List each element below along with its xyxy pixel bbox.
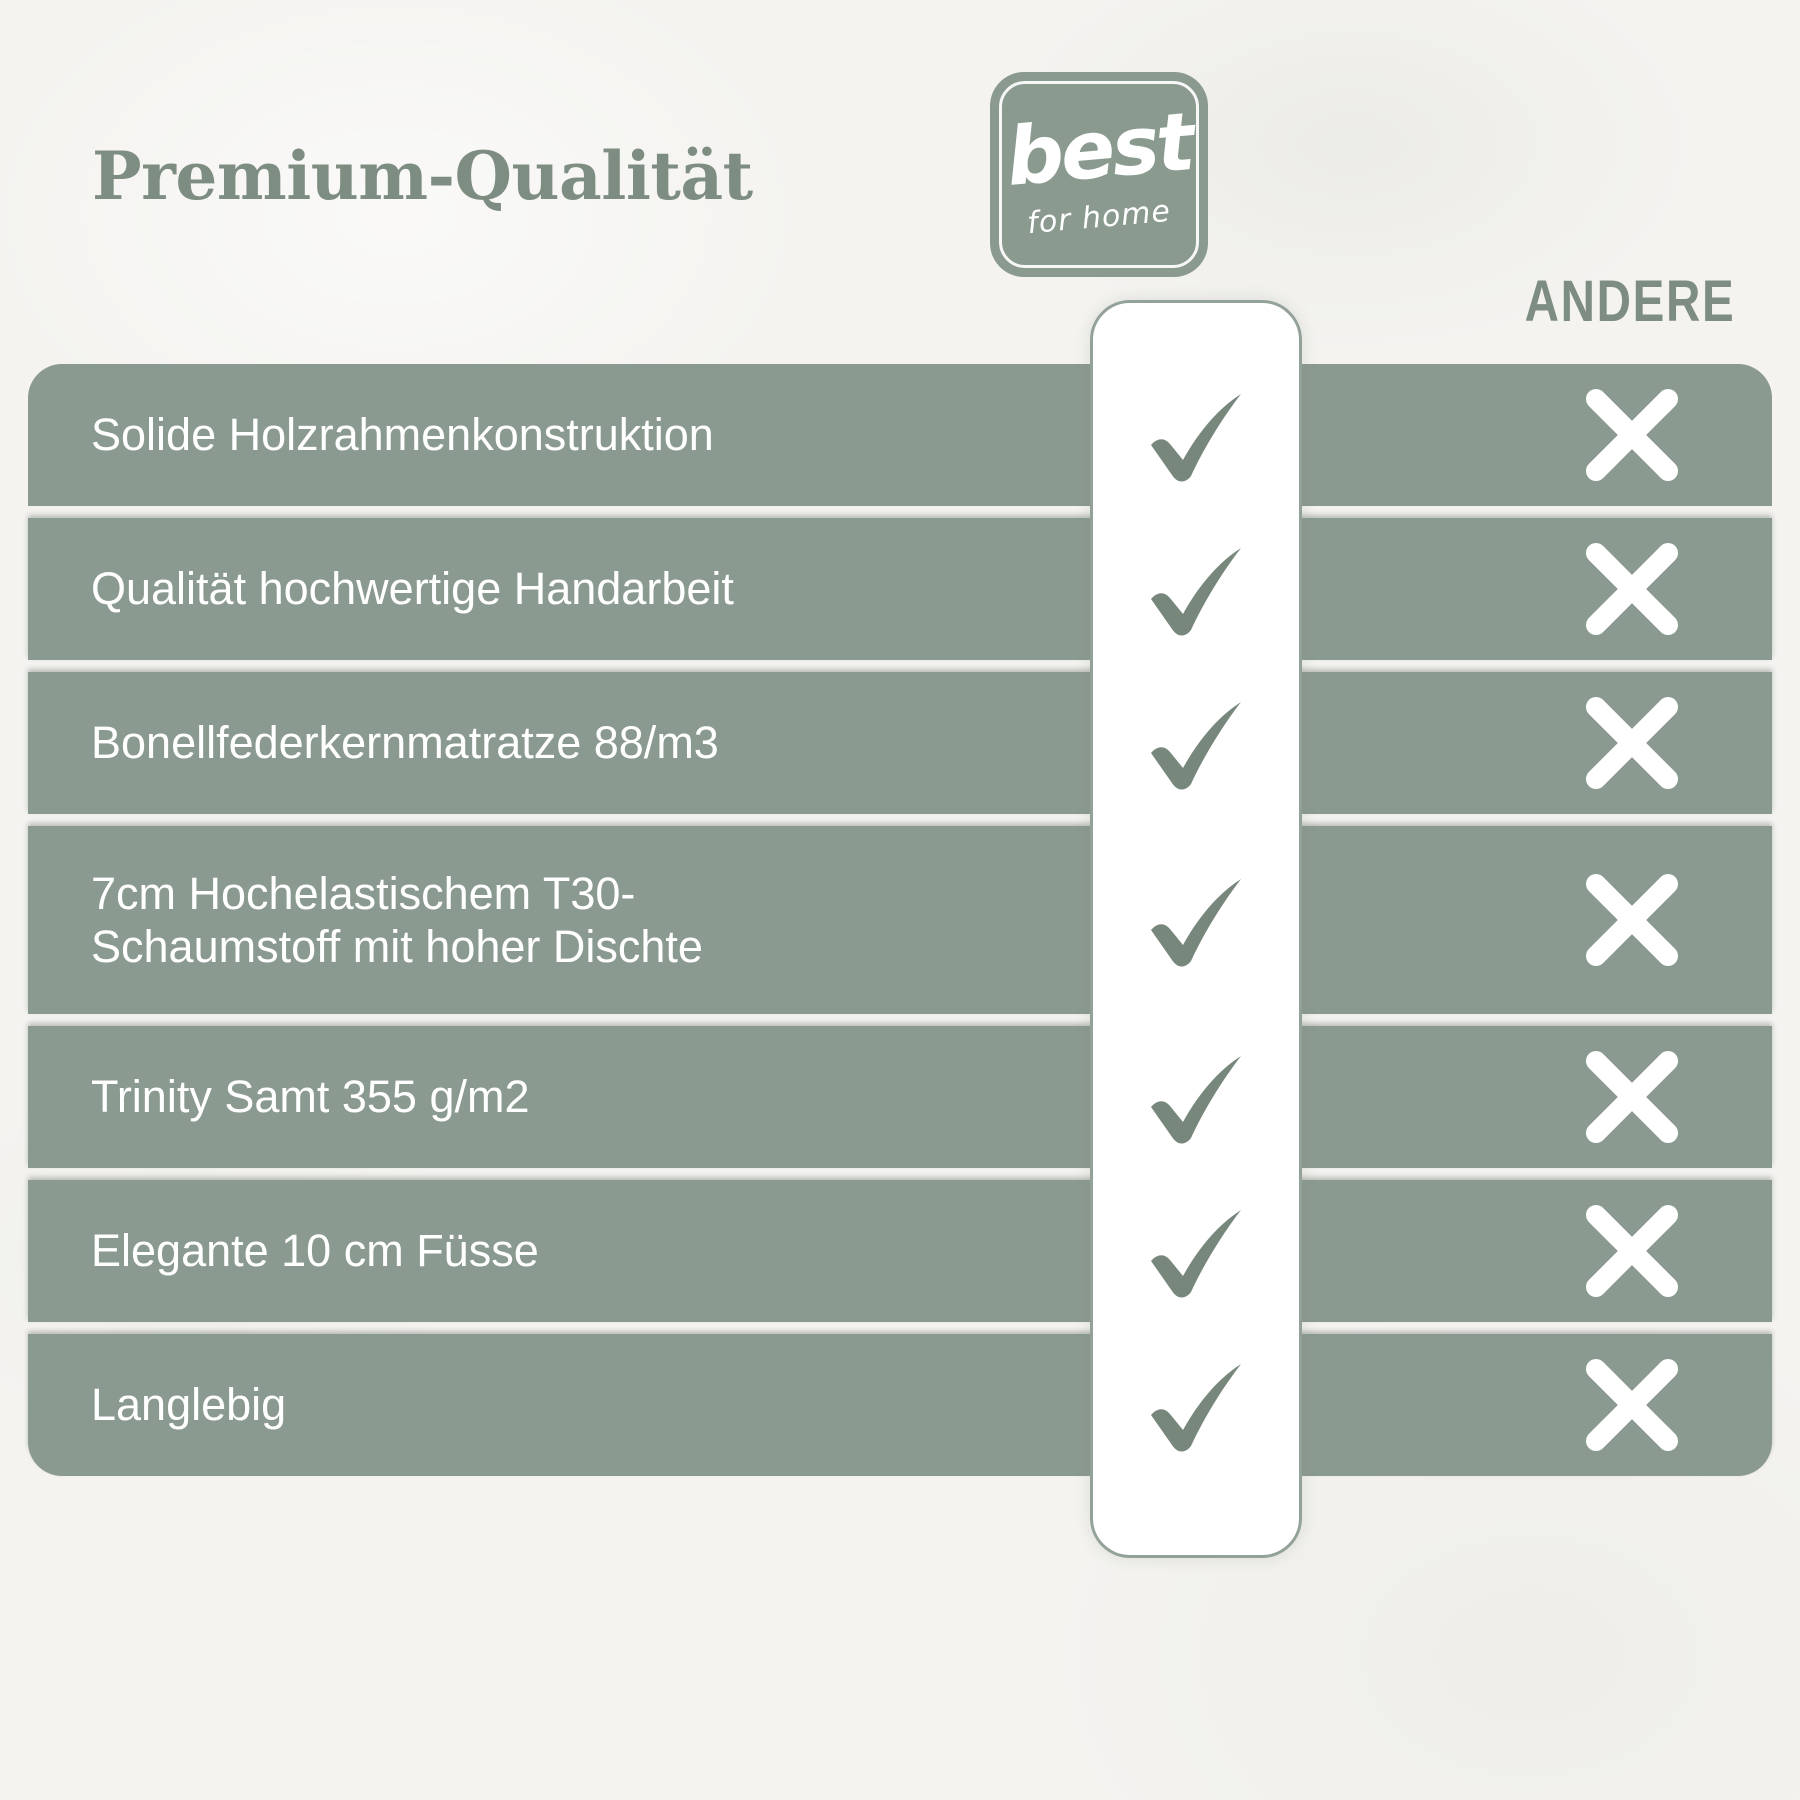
table-row: Qualität hochwertige Handarbeit bbox=[28, 518, 1772, 660]
table-row: 7cm Hochelastischem T30-Schaumstoff mit … bbox=[28, 826, 1772, 1014]
cross-icon bbox=[1576, 1349, 1688, 1461]
feature-label: Qualität hochwertige Handarbeit bbox=[28, 518, 1224, 660]
logo-wordmark: best bbox=[987, 101, 1211, 200]
comparison-table: Solide HolzrahmenkonstruktionQualität ho… bbox=[28, 364, 1772, 1476]
table-row: Solide Holzrahmenkonstruktion bbox=[28, 364, 1772, 506]
feature-label: Trinity Samt 355 g/m2 bbox=[28, 1026, 1224, 1168]
competitor-column-cell bbox=[1492, 1334, 1772, 1476]
best-check-slot bbox=[1090, 672, 1302, 814]
check-icon bbox=[1137, 1346, 1255, 1464]
cross-icon bbox=[1576, 1041, 1688, 1153]
best-check-slot bbox=[1090, 1180, 1302, 1322]
cross-icon bbox=[1576, 864, 1688, 976]
check-icon bbox=[1137, 1038, 1255, 1156]
competitor-column-cell bbox=[1492, 364, 1772, 506]
feature-label: Langlebig bbox=[28, 1334, 1224, 1476]
cross-icon bbox=[1576, 533, 1688, 645]
check-icon bbox=[1137, 684, 1255, 802]
competitor-column-cell bbox=[1492, 518, 1772, 660]
feature-label: Elegante 10 cm Füsse bbox=[28, 1180, 1224, 1322]
cross-icon bbox=[1576, 379, 1688, 491]
check-icon bbox=[1137, 1192, 1255, 1310]
best-check-slot bbox=[1090, 518, 1302, 660]
best-check-slot bbox=[1090, 1334, 1302, 1476]
best-column-check-stack bbox=[1090, 364, 1302, 1476]
feature-label: Solide Holzrahmenkonstruktion bbox=[28, 364, 1224, 506]
competitor-column-cell bbox=[1492, 1026, 1772, 1168]
table-row: Langlebig bbox=[28, 1334, 1772, 1476]
feature-label: 7cm Hochelastischem T30-Schaumstoff mit … bbox=[28, 826, 1224, 1014]
best-check-slot bbox=[1090, 826, 1302, 1014]
check-icon bbox=[1137, 376, 1255, 494]
page-title: Premium-Qualität bbox=[92, 137, 753, 215]
competitor-column-cell bbox=[1492, 672, 1772, 814]
competitor-column-cell bbox=[1492, 1180, 1772, 1322]
table-row: Bonellfederkernmatratze 88/m3 bbox=[28, 672, 1772, 814]
table-row: Elegante 10 cm Füsse bbox=[28, 1180, 1772, 1322]
cross-icon bbox=[1576, 687, 1688, 799]
check-icon bbox=[1137, 530, 1255, 648]
best-check-slot bbox=[1090, 1026, 1302, 1168]
feature-label: Bonellfederkernmatratze 88/m3 bbox=[28, 672, 1224, 814]
table-row: Trinity Samt 355 g/m2 bbox=[28, 1026, 1772, 1168]
competitor-column-cell bbox=[1492, 826, 1772, 1014]
competitor-column-header: ANDERE bbox=[1523, 268, 1736, 335]
best-check-slot bbox=[1090, 364, 1302, 506]
best-for-home-logo: best for home bbox=[990, 72, 1208, 277]
check-icon bbox=[1137, 861, 1255, 979]
cross-icon bbox=[1576, 1195, 1688, 1307]
